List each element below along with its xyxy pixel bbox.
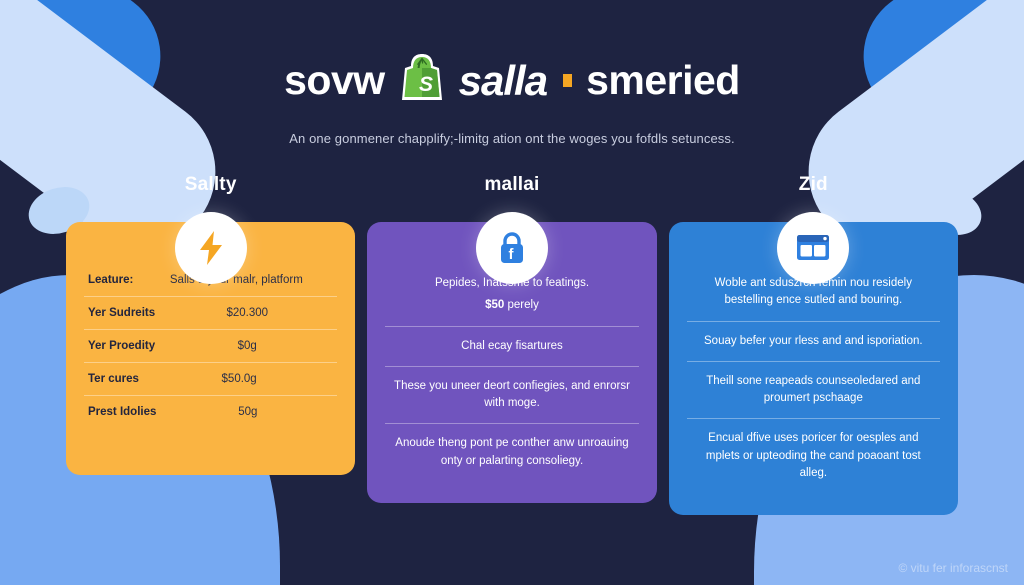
svg-text:S: S [419,73,433,96]
table-row: Prest Idolies 50g [84,395,337,428]
row-label: Yer Proedity [88,340,155,352]
table-row: Yer Proedity $0g [84,329,337,362]
shopify-bag-icon: S [399,52,445,109]
row-text: Souay befer your rless and and isporiati… [704,335,923,347]
price-unit: perely [508,299,539,311]
list-item: Anoude theng pont pe conther anw unroaui… [385,423,638,481]
brand-accent-dot [563,74,572,87]
row-value: $20.300 [163,307,331,319]
list-item: Theill sone reapeads counseoledared and … [687,361,940,419]
row-label: Ter cures [88,373,139,385]
watermark-credit: © vitu fer inforascnst [898,561,1008,575]
row-text: Encual dfive uses poricer for oesples an… [706,432,921,479]
list-item: Encual dfive uses poricer for oesples an… [687,418,940,493]
row-text: Anoude theng pont pe conther anw unroaui… [395,437,628,466]
lightning-bolt-icon [175,212,247,284]
row-text: These you uneer deort confiegies, and en… [394,380,630,409]
page-subtitle: An one gonmener chapplify;-limitg ation … [0,131,1024,146]
row-text: Chal ecay fisartures [461,340,563,352]
row-label: Leature: [88,274,133,286]
column-heading: Zid [799,174,828,196]
infographic-root: sovw S salla smeried An one gonmener cha… [0,0,1024,585]
table-row: Ter cures $50.0g [84,362,337,395]
row-label: Prest Idolies [88,406,156,418]
comparison-columns: Sallty Leature: Salls a your malr, platf… [0,174,1024,515]
header: sovw S salla smeried An one gonmener cha… [0,0,1024,146]
row-text: Theill sone reapeads counseoledared and … [706,375,920,404]
row-value: 50g [164,406,331,418]
column-heading: Sallty [185,174,237,196]
row-value: $50.0g [147,373,331,385]
row-price: $50 perely [393,297,630,314]
row-label: Yer Sudreits [88,307,155,319]
browser-layout-icon [777,212,849,284]
title-prefix: sovw [284,57,385,104]
row-value: Salls a your malr, platform [141,274,331,286]
column-sallty: Sallty Leature: Salls a your malr, platf… [66,174,355,515]
column-mallai: mallai f Pepides, Inatssme to featings. … [367,174,656,515]
lock-facebook-icon: f [476,212,548,284]
table-row: Yer Sudreits $20.300 [84,296,337,329]
list-item: Souay befer your rless and and isporiati… [687,321,940,361]
column-zid: Zid Woble ant sduszrch femin nou residel… [669,174,958,515]
title-suffix: smeried [586,57,740,104]
price-amount: $50 [485,299,504,311]
page-title: sovw S salla smeried [0,52,1024,109]
list-item: Chal ecay fisartures [385,326,638,366]
brand-name: salla [459,57,547,105]
row-value: $0g [163,340,331,352]
list-item: These you uneer deort confiegies, and en… [385,366,638,424]
column-heading: mallai [484,174,539,196]
